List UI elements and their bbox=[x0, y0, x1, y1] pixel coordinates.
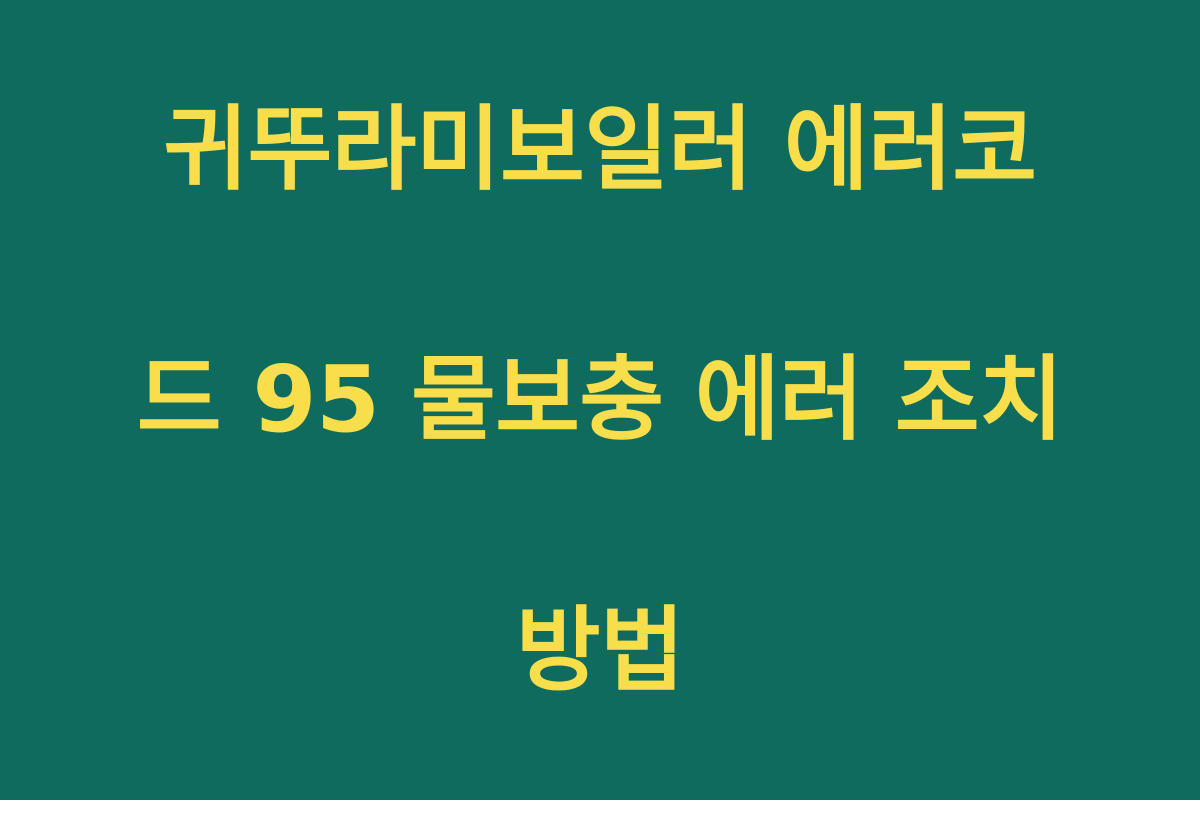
headline-line-3: 방법 bbox=[60, 588, 1140, 713]
headline-line-2: 드 95 물보충 에러 조치 bbox=[60, 337, 1140, 462]
page-title: 귀뚜라미보일러 에러코 드 95 물보충 에러 조치 방법 bbox=[60, 0, 1140, 838]
headline-line-1: 귀뚜라미보일러 에러코 bbox=[60, 87, 1140, 212]
thumbnail-banner: 귀뚜라미보일러 에러코 드 95 물보충 에러 조치 방법 bbox=[0, 0, 1200, 800]
